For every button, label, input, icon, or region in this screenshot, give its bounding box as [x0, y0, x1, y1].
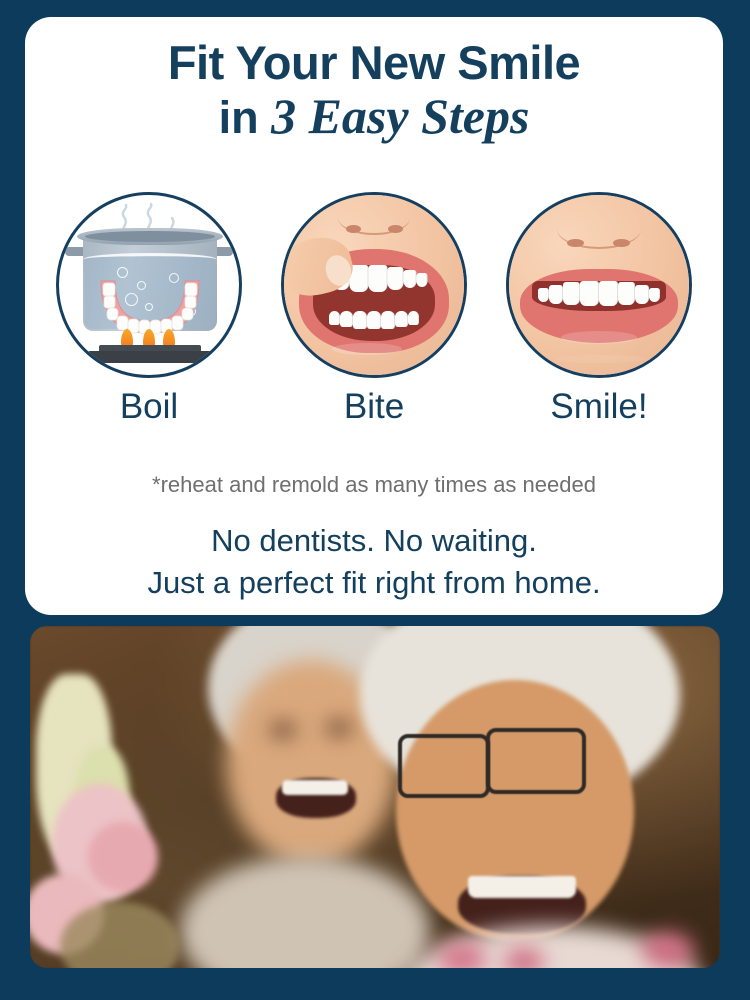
tooth: [599, 281, 618, 306]
nostril-icon: [613, 239, 630, 247]
tooth: [340, 311, 353, 327]
step-boil: Boil: [54, 192, 244, 427]
nostril-icon: [388, 225, 403, 233]
photo-back-woman-eye: [326, 720, 352, 736]
tooth: [367, 311, 381, 329]
lip-highlight: [561, 331, 637, 344]
steps-row: Boil: [25, 192, 723, 427]
tooth: [388, 267, 404, 290]
tagline-line-1: No dentists. No waiting.: [25, 520, 723, 562]
face-smiling-icon: [509, 195, 689, 375]
water-surface-line: [83, 253, 217, 266]
tooth: [408, 311, 419, 325]
eyeglasses-icon: [486, 728, 586, 794]
poster-root: Fit Your New Smile in 3 Easy Steps: [0, 0, 750, 1000]
title-line-1: Fit Your New Smile: [25, 39, 723, 87]
denture-icon: [97, 279, 203, 335]
bite-illustration: [281, 192, 467, 378]
smile-illustration: [506, 192, 692, 378]
upper-teeth: [538, 281, 660, 306]
pot-interior: [85, 231, 215, 242]
tooth: [417, 273, 428, 287]
lip-highlight: [332, 343, 402, 355]
lifestyle-photo: [30, 626, 720, 968]
info-card: Fit Your New Smile in 3 Easy Steps: [25, 17, 723, 615]
tooth: [353, 311, 367, 329]
step-label-bite: Bite: [344, 387, 404, 427]
photo-back-woman-eye: [270, 722, 296, 738]
tooth: [549, 285, 563, 304]
bubble-icon: [117, 267, 128, 278]
boil-illustration: [56, 192, 242, 378]
tooth: [395, 311, 408, 327]
photo-pink-rose: [88, 822, 158, 892]
stove-base: [87, 351, 213, 363]
face-open-mouth-icon: [284, 195, 464, 375]
footnote-text: *reheat and remold as many times as need…: [25, 472, 723, 498]
chin-shadow: [555, 355, 645, 363]
tooth: [538, 288, 549, 302]
title-line-2-emphasis: 3 Easy Steps: [271, 88, 529, 144]
tooth: [563, 282, 580, 305]
step-label-smile: Smile!: [550, 387, 647, 427]
tooth: [329, 311, 340, 325]
tooth: [369, 265, 388, 292]
tooth: [618, 282, 635, 305]
step-label-boil: Boil: [120, 387, 178, 427]
title-line-2-plain: in: [219, 92, 272, 143]
tagline-line-2: Just a perfect fit right from home.: [25, 562, 723, 604]
photo-floral-print: [642, 932, 694, 968]
photo-back-woman-teeth: [282, 780, 348, 795]
lower-teeth: [329, 311, 419, 329]
nostril-icon: [346, 225, 361, 233]
tooth: [580, 281, 599, 306]
step-bite: Bite: [279, 192, 469, 427]
boiling-pot-icon: [59, 195, 239, 375]
tagline: No dentists. No waiting. Just a perfect …: [25, 520, 723, 605]
page-title: Fit Your New Smile in 3 Easy Steps: [25, 39, 723, 142]
eyeglasses-icon: [398, 734, 490, 798]
tooth: [381, 311, 395, 329]
nostril-icon: [567, 239, 584, 247]
tooth: [635, 285, 649, 304]
step-smile: Smile!: [504, 192, 694, 427]
tooth: [404, 270, 417, 288]
title-line-2: in 3 Easy Steps: [25, 91, 723, 142]
photo-front-woman-teeth: [468, 876, 576, 898]
tooth: [649, 288, 660, 302]
photo-floral-print: [438, 942, 486, 968]
